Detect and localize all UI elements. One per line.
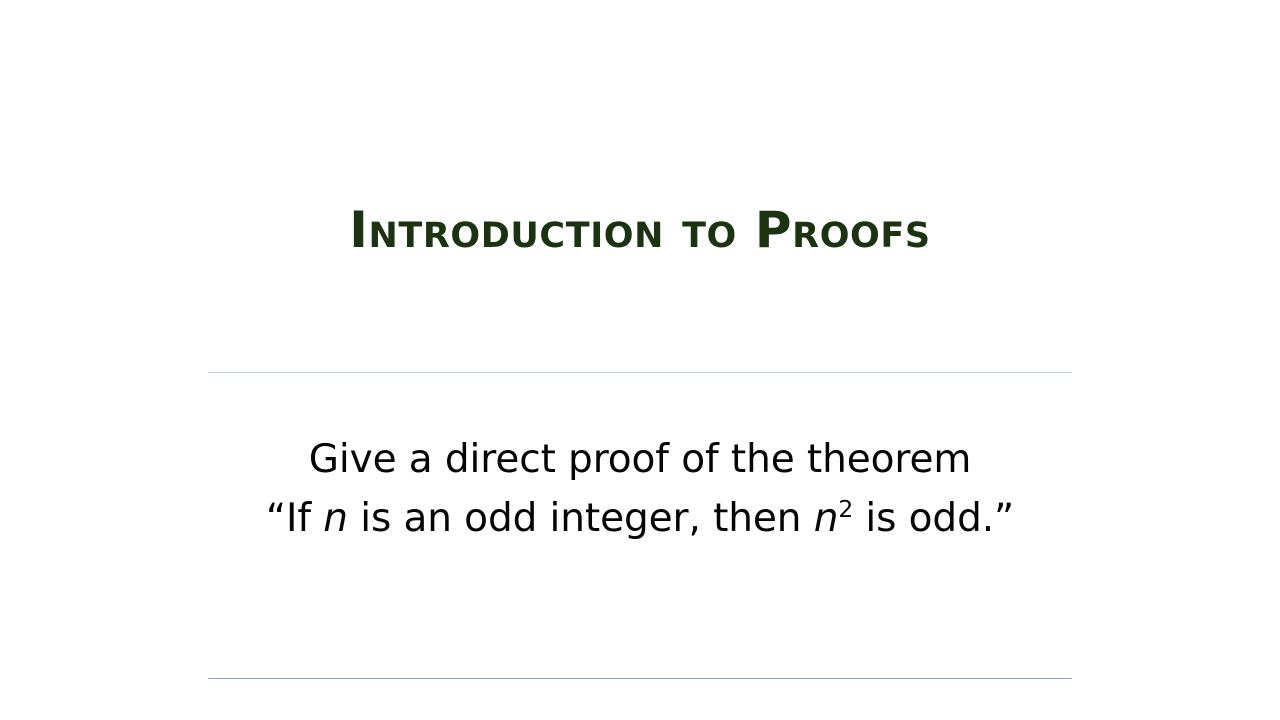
divider-bottom [208, 678, 1072, 679]
body-text-block: Give a direct proof of the theorem “If n… [208, 430, 1072, 548]
close-quote: ” [994, 496, 1014, 541]
line2-suffix: is odd. [853, 496, 994, 541]
slide-canvas: Introduction to Proofs Give a direct pro… [0, 0, 1280, 720]
line2-middle: is an odd integer, then [348, 496, 814, 541]
variable-n-second: n [814, 496, 839, 541]
open-quote: “ [266, 496, 286, 541]
line2-prefix: If [286, 496, 323, 541]
divider-top [208, 372, 1072, 373]
exponent-two: 2 [838, 495, 853, 523]
page-title: Introduction to Proofs [0, 202, 1280, 258]
variable-n-first: n [323, 496, 348, 541]
body-line-1: Give a direct proof of the theorem [208, 430, 1072, 489]
body-line-2: “If n is an odd integer, then n2 is odd.… [208, 489, 1072, 548]
